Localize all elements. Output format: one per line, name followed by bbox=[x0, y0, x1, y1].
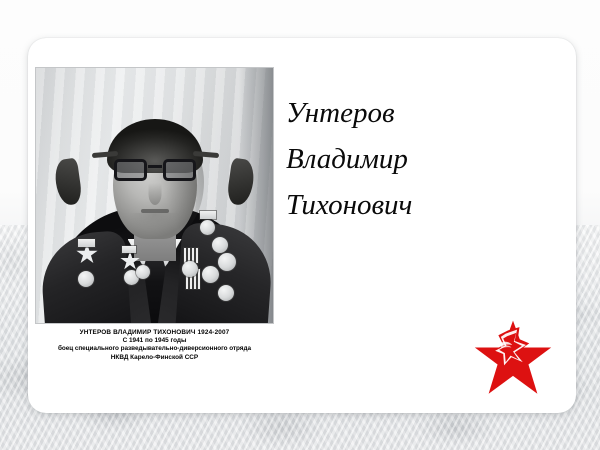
photo-nose bbox=[148, 183, 161, 205]
title-line-surname: Унтеров bbox=[286, 90, 566, 136]
medal-bar-left bbox=[78, 239, 95, 247]
eyeglasses-icon bbox=[112, 157, 198, 183]
title-line-firstname: Владимир bbox=[286, 136, 566, 182]
caption-line-3: боец специального разведывательно-диверс… bbox=[33, 345, 276, 353]
medal-round-right-f bbox=[218, 285, 234, 301]
eyeglass-bridge bbox=[148, 165, 162, 168]
medal-round-left bbox=[78, 271, 94, 287]
portrait-photo bbox=[36, 68, 273, 323]
photo-block: УНТЕРОВ ВЛАДИМИР ТИХОНОВИЧ 1924-2007 С 1… bbox=[33, 68, 276, 362]
medal-round-right-a bbox=[182, 261, 198, 277]
caption-line-1: УНТЕРОВ ВЛАДИМИР ТИХОНОВИЧ 1924-2007 bbox=[33, 329, 276, 337]
medal-bar-right bbox=[200, 211, 216, 219]
caption-line-4: НКВД Карело-Финской ССР bbox=[33, 354, 276, 362]
medal-round-right-b bbox=[202, 266, 219, 283]
medal-round-right-e bbox=[200, 220, 215, 235]
medal-bar-center bbox=[122, 246, 136, 253]
slide-stage: УНТЕРОВ ВЛАДИМИР ТИХОНОВИЧ 1924-2007 С 1… bbox=[0, 0, 600, 450]
photo-chin bbox=[130, 213, 180, 231]
title-block: Унтеров Владимир Тихонович bbox=[286, 90, 566, 228]
medal-round-right-c bbox=[218, 253, 236, 271]
medal-round-right-d bbox=[212, 237, 228, 253]
content-card: УНТЕРОВ ВЛАДИМИР ТИХОНОВИЧ 1924-2007 С 1… bbox=[28, 38, 576, 413]
title-line-patronymic: Тихонович bbox=[286, 182, 566, 228]
red-star-icon bbox=[472, 319, 554, 397]
photo-caption: УНТЕРОВ ВЛАДИМИР ТИХОНОВИЧ 1924-2007 С 1… bbox=[33, 329, 276, 362]
eyeglass-lens-right bbox=[163, 159, 196, 181]
medal-round-center-b bbox=[136, 265, 150, 279]
eyeglass-lens-left bbox=[114, 159, 147, 181]
